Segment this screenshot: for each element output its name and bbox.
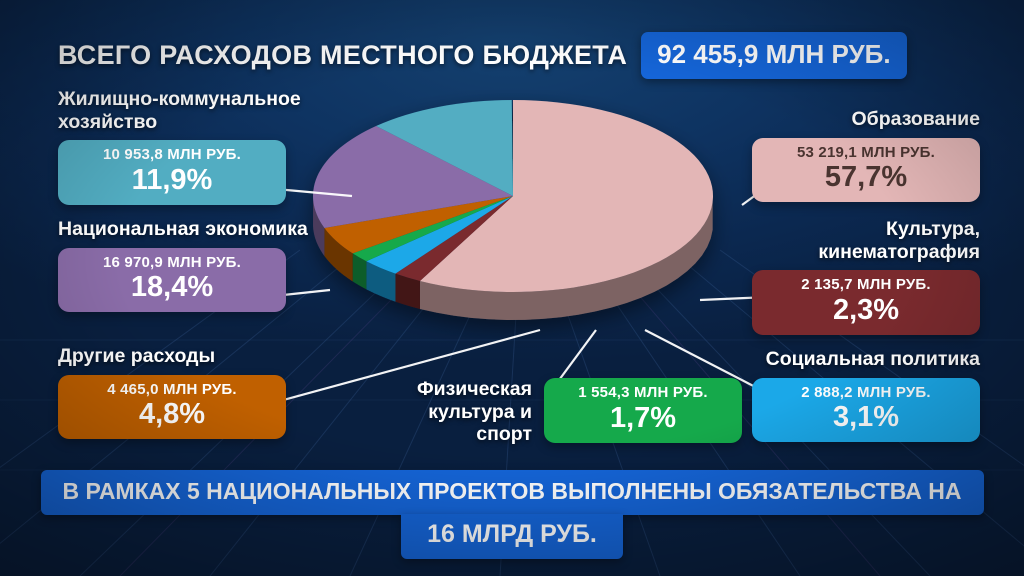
badge-economy: 16 970,9 МЛН РУБ. 18,4%: [58, 248, 286, 313]
badge-other-pct: 4,8%: [72, 399, 272, 430]
badge-culture: 2 135,7 МЛН РУБ. 2,3%: [752, 270, 980, 335]
label-education: Образование 53 219,1 МЛН РУБ. 57,7%: [740, 108, 980, 202]
label-other-title: Другие расходы: [58, 345, 308, 368]
badge-other: 4 465,0 МЛН РУБ. 4,8%: [58, 375, 286, 440]
badge-education: 53 219,1 МЛН РУБ. 57,7%: [752, 138, 980, 203]
label-culture: Культура, кинематография 2 135,7 МЛН РУБ…: [740, 218, 980, 335]
pie-chart: [268, 90, 768, 390]
label-culture-title: Культура, кинематография: [740, 218, 980, 263]
label-economy-title: Национальная экономика: [58, 218, 308, 241]
page-title: ВСЕГО РАСХОДОВ МЕСТНОГО БЮДЖЕТА: [58, 40, 627, 71]
footer-line-2: 16 МЛРД РУБ.: [401, 514, 623, 559]
badge-economy-amount: 16 970,9 МЛН РУБ.: [72, 255, 272, 272]
badge-sport-amount: 1 554,3 МЛН РУБ.: [558, 385, 728, 402]
header: ВСЕГО РАСХОДОВ МЕСТНОГО БЮДЖЕТА 92 455,9…: [58, 32, 907, 79]
badge-other-amount: 4 465,0 МЛН РУБ.: [72, 382, 272, 399]
badge-education-pct: 57,7%: [766, 162, 966, 193]
badge-housing-amount: 10 953,8 МЛН РУБ.: [72, 147, 272, 164]
label-social: Социальная политика 2 888,2 МЛН РУБ. 3,1…: [724, 348, 980, 442]
label-sport-title: Физическая культура и спорт: [404, 378, 532, 446]
badge-culture-amount: 2 135,7 МЛН РУБ.: [766, 277, 966, 294]
label-housing-title: Жилищно-коммунальное хозяйство: [58, 88, 338, 133]
infographic-slide: ВСЕГО РАСХОДОВ МЕСТНОГО БЮДЖЕТА 92 455,9…: [0, 0, 1024, 576]
badge-sport-pct: 1,7%: [558, 403, 728, 434]
badge-housing-pct: 11,9%: [72, 165, 272, 196]
badge-culture-pct: 2,3%: [766, 295, 966, 326]
total-expenses-badge: 92 455,9 МЛН РУБ.: [641, 32, 906, 79]
label-economy: Национальная экономика 16 970,9 МЛН РУБ.…: [58, 218, 308, 312]
label-education-title: Образование: [740, 108, 980, 131]
label-other: Другие расходы 4 465,0 МЛН РУБ. 4,8%: [58, 345, 308, 439]
label-housing: Жилищно-коммунальное хозяйство 10 953,8 …: [58, 88, 338, 205]
label-social-title: Социальная политика: [724, 348, 980, 371]
badge-social: 2 888,2 МЛН РУБ. 3,1%: [752, 378, 980, 443]
badge-sport: 1 554,3 МЛН РУБ. 1,7%: [544, 378, 742, 443]
footer-banner: В РАМКАХ 5 НАЦИОНАЛЬНЫХ ПРОЕКТОВ ВЫПОЛНЕ…: [0, 470, 1024, 559]
badge-education-amount: 53 219,1 МЛН РУБ.: [766, 145, 966, 162]
badge-housing: 10 953,8 МЛН РУБ. 11,9%: [58, 140, 286, 205]
footer-line-1: В РАМКАХ 5 НАЦИОНАЛЬНЫХ ПРОЕКТОВ ВЫПОЛНЕ…: [41, 470, 984, 515]
badge-economy-pct: 18,4%: [72, 272, 272, 303]
label-sport: Физическая культура и спорт 1 554,3 МЛН …: [404, 378, 742, 446]
badge-social-pct: 3,1%: [766, 402, 966, 433]
badge-social-amount: 2 888,2 МЛН РУБ.: [766, 385, 966, 402]
